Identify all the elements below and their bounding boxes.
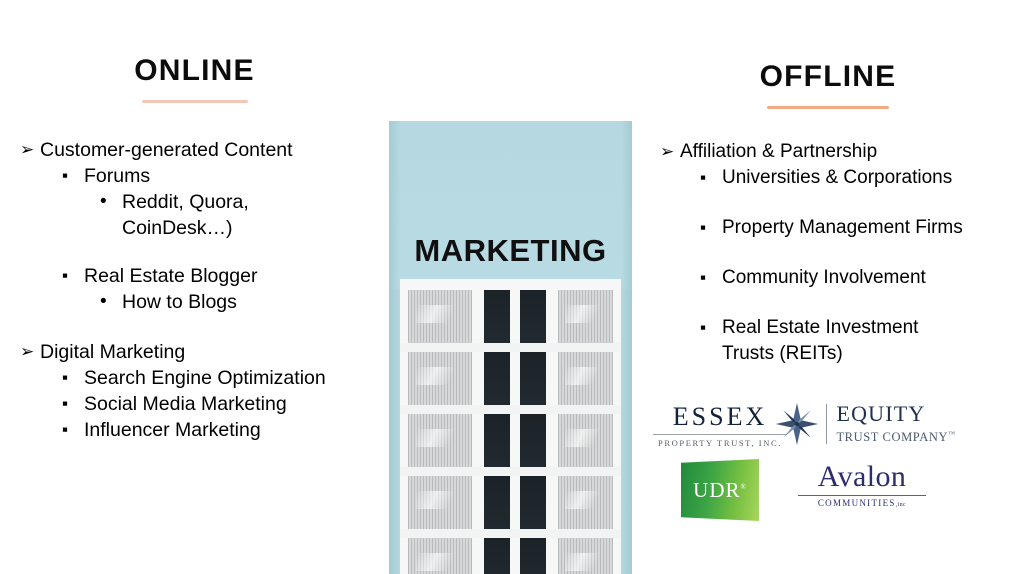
list-item: ➢ Affiliation & Partnership bbox=[632, 139, 1024, 165]
list-item: ▪ Search Engine Optimization bbox=[0, 365, 389, 391]
window-blinds bbox=[558, 290, 613, 343]
offline-heading: OFFLINE bbox=[632, 60, 1024, 94]
facade-mullion bbox=[613, 414, 621, 467]
facade-mullion bbox=[400, 352, 408, 405]
logo-udr: UDR® bbox=[672, 457, 768, 523]
photo-edge-shading bbox=[621, 121, 632, 574]
window-blinds bbox=[558, 414, 613, 467]
list-item-label: Real Estate Investment bbox=[722, 315, 1024, 341]
window-dark bbox=[484, 290, 510, 343]
window-dark bbox=[520, 414, 546, 467]
logo-avalon-tagline: COMMUNITIES,inc bbox=[818, 498, 906, 508]
list-item: Trusts (REITs) bbox=[632, 341, 1024, 367]
window-dark bbox=[484, 476, 510, 529]
facade-mullion bbox=[546, 352, 558, 405]
list-spacer bbox=[632, 191, 1024, 215]
list-item: ▪ Real Estate Blogger bbox=[0, 263, 389, 289]
facade-mullion bbox=[510, 414, 520, 467]
building-floor bbox=[400, 414, 621, 476]
square-bullet-icon: ▪ bbox=[700, 315, 722, 341]
list-spacer bbox=[632, 241, 1024, 265]
window-dark bbox=[520, 352, 546, 405]
logo-equity-tagline-text: TRUST COMPANY bbox=[836, 431, 948, 445]
facade-mullion bbox=[546, 414, 558, 467]
window-dark bbox=[520, 290, 546, 343]
window-blinds bbox=[408, 290, 472, 343]
facade-mullion bbox=[510, 476, 520, 529]
facade-mullion bbox=[510, 352, 520, 405]
square-bullet-icon: ▪ bbox=[62, 365, 84, 391]
facade-mullion bbox=[400, 290, 408, 343]
building-facade bbox=[400, 279, 621, 574]
logo-essex: ESSEX PROPERTY TRUST, INC. bbox=[650, 403, 790, 448]
square-bullet-icon: ▪ bbox=[700, 265, 722, 291]
list-item-label: Reddit, Quora, bbox=[122, 189, 389, 215]
list-item-label: Digital Marketing bbox=[40, 339, 389, 365]
square-bullet-icon: ▪ bbox=[62, 263, 84, 289]
facade-mullion bbox=[613, 352, 621, 405]
list-item-label: Influencer Marketing bbox=[84, 417, 389, 443]
logo-avalon: Avalon COMMUNITIES,inc bbox=[787, 461, 937, 508]
offline-accent-rule bbox=[767, 106, 889, 109]
list-item: ▪ Community Involvement bbox=[632, 265, 1024, 291]
online-accent-rule bbox=[142, 100, 248, 103]
window-dark bbox=[484, 352, 510, 405]
arrow-bullet-icon: ➢ bbox=[660, 139, 680, 165]
list-spacer bbox=[0, 241, 389, 263]
square-bullet-icon: ▪ bbox=[62, 417, 84, 443]
list-item: ▪ Universities & Corporations bbox=[632, 165, 1024, 191]
window-blinds bbox=[408, 414, 472, 467]
square-bullet-icon: ▪ bbox=[700, 165, 722, 191]
facade-mullion bbox=[546, 538, 558, 574]
udr-green-shape: UDR® bbox=[681, 459, 759, 521]
logo-udr-wordmark: UDR® bbox=[693, 478, 747, 503]
list-item-label: Real Estate Blogger bbox=[84, 263, 389, 289]
photo-caption: MARKETING bbox=[389, 233, 632, 269]
list-item-label: CoinDesk…) bbox=[122, 215, 389, 241]
online-bullet-list: ➢ Customer-generated Content ▪ Forums • … bbox=[0, 137, 389, 443]
logo-equity-tagline: TRUST COMPANY™ bbox=[836, 426, 955, 445]
list-spacer bbox=[0, 315, 389, 337]
window-blinds bbox=[558, 538, 613, 574]
facade-mullion bbox=[472, 290, 484, 343]
square-bullet-icon: ▪ bbox=[62, 163, 84, 189]
logo-equity-wordmark: EQUITY bbox=[836, 402, 925, 426]
round-bullet-icon: • bbox=[100, 189, 122, 215]
window-dark bbox=[520, 538, 546, 574]
list-item-label: Customer-generated Content bbox=[40, 137, 389, 163]
facade-mullion bbox=[472, 538, 484, 574]
trademark-icon: ™ bbox=[948, 430, 955, 438]
logo-equity-text: EQUITY TRUST COMPANY™ bbox=[836, 402, 955, 445]
list-item: ▪ Forums bbox=[0, 163, 389, 189]
building-floor bbox=[400, 279, 621, 352]
logo-avalon-tagline-text: COMMUNITIES bbox=[818, 498, 896, 508]
facade-mullion bbox=[613, 290, 621, 343]
logo-avalon-divider bbox=[798, 495, 926, 496]
facade-mullion bbox=[546, 476, 558, 529]
slide-canvas: ONLINE ➢ Customer-generated Content ▪ Fo… bbox=[0, 0, 1024, 574]
window-dark bbox=[520, 476, 546, 529]
facade-mullion bbox=[613, 538, 621, 574]
offline-column: OFFLINE ➢ Affiliation & Partnership ▪ Un… bbox=[632, 0, 1024, 574]
online-column: ONLINE ➢ Customer-generated Content ▪ Fo… bbox=[0, 0, 389, 574]
facade-mullion bbox=[472, 352, 484, 405]
list-item-label: Affiliation & Partnership bbox=[680, 139, 1024, 165]
list-item-label: How to Blogs bbox=[122, 289, 389, 315]
list-item: ▪ Influencer Marketing bbox=[0, 417, 389, 443]
list-item-label: Property Management Firms bbox=[722, 215, 1024, 241]
window-blinds bbox=[558, 476, 613, 529]
list-item: ▪ Property Management Firms bbox=[632, 215, 1024, 241]
window-blinds bbox=[408, 538, 472, 574]
facade-mullion bbox=[510, 290, 520, 343]
logo-avalon-wordmark: Avalon bbox=[818, 461, 907, 493]
list-item-label: Search Engine Optimization bbox=[84, 365, 389, 391]
list-item: ▪ Social Media Marketing bbox=[0, 391, 389, 417]
round-bullet-icon: • bbox=[100, 289, 122, 315]
list-item-label: Community Involvement bbox=[722, 265, 1024, 291]
facade-mullion bbox=[613, 476, 621, 529]
facade-mullion bbox=[472, 476, 484, 529]
marketing-building-photo: MARKETING bbox=[389, 121, 632, 574]
list-item: • Reddit, Quora, bbox=[0, 189, 389, 215]
building-floor bbox=[400, 352, 621, 414]
square-bullet-icon: ▪ bbox=[700, 215, 722, 241]
list-item: • How to Blogs bbox=[0, 289, 389, 315]
photo-edge-shading bbox=[389, 121, 400, 574]
registered-icon: ® bbox=[741, 483, 747, 491]
facade-mullion bbox=[400, 476, 408, 529]
window-dark bbox=[484, 538, 510, 574]
facade-mullion bbox=[510, 538, 520, 574]
logo-avalon-tagline-suffix: ,inc bbox=[896, 502, 906, 508]
logo-essex-divider bbox=[653, 434, 787, 435]
logo-essex-tagline: PROPERTY TRUST, INC. bbox=[658, 438, 782, 448]
partner-logos: ESSEX PROPERTY TRUST, INC. bbox=[632, 395, 1024, 535]
list-item: ▪ Real Estate Investment bbox=[632, 315, 1024, 341]
list-item-label: Forums bbox=[84, 163, 389, 189]
logo-equity-divider bbox=[826, 404, 827, 444]
facade-mullion bbox=[400, 538, 408, 574]
list-item-label: Trusts (REITs) bbox=[722, 341, 1024, 367]
window-blinds bbox=[408, 476, 472, 529]
logo-equity-trust: EQUITY TRUST COMPANY™ bbox=[772, 401, 957, 447]
building-floor bbox=[400, 476, 621, 538]
facade-mullion bbox=[546, 290, 558, 343]
window-dark bbox=[484, 414, 510, 467]
arrow-bullet-icon: ➢ bbox=[20, 137, 40, 163]
offline-bullet-list: ➢ Affiliation & Partnership ▪ Universiti… bbox=[632, 139, 1024, 367]
window-blinds bbox=[558, 352, 613, 405]
square-bullet-icon: ▪ bbox=[62, 391, 84, 417]
list-item-label: Universities & Corporations bbox=[722, 165, 1024, 191]
list-item-label: Social Media Marketing bbox=[84, 391, 389, 417]
window-blinds bbox=[408, 352, 472, 405]
logo-udr-name: UDR bbox=[693, 478, 740, 502]
list-spacer bbox=[632, 291, 1024, 315]
list-item: ➢ Customer-generated Content bbox=[0, 137, 389, 163]
logo-essex-wordmark: ESSEX bbox=[673, 403, 767, 431]
arrow-bullet-icon: ➢ bbox=[20, 339, 40, 365]
building-floor bbox=[400, 538, 621, 574]
facade-mullion bbox=[472, 414, 484, 467]
list-item: ➢ Digital Marketing bbox=[0, 339, 389, 365]
compass-star-icon bbox=[773, 401, 821, 447]
list-item: CoinDesk…) bbox=[0, 215, 389, 241]
facade-mullion bbox=[400, 414, 408, 467]
online-heading: ONLINE bbox=[0, 54, 389, 88]
